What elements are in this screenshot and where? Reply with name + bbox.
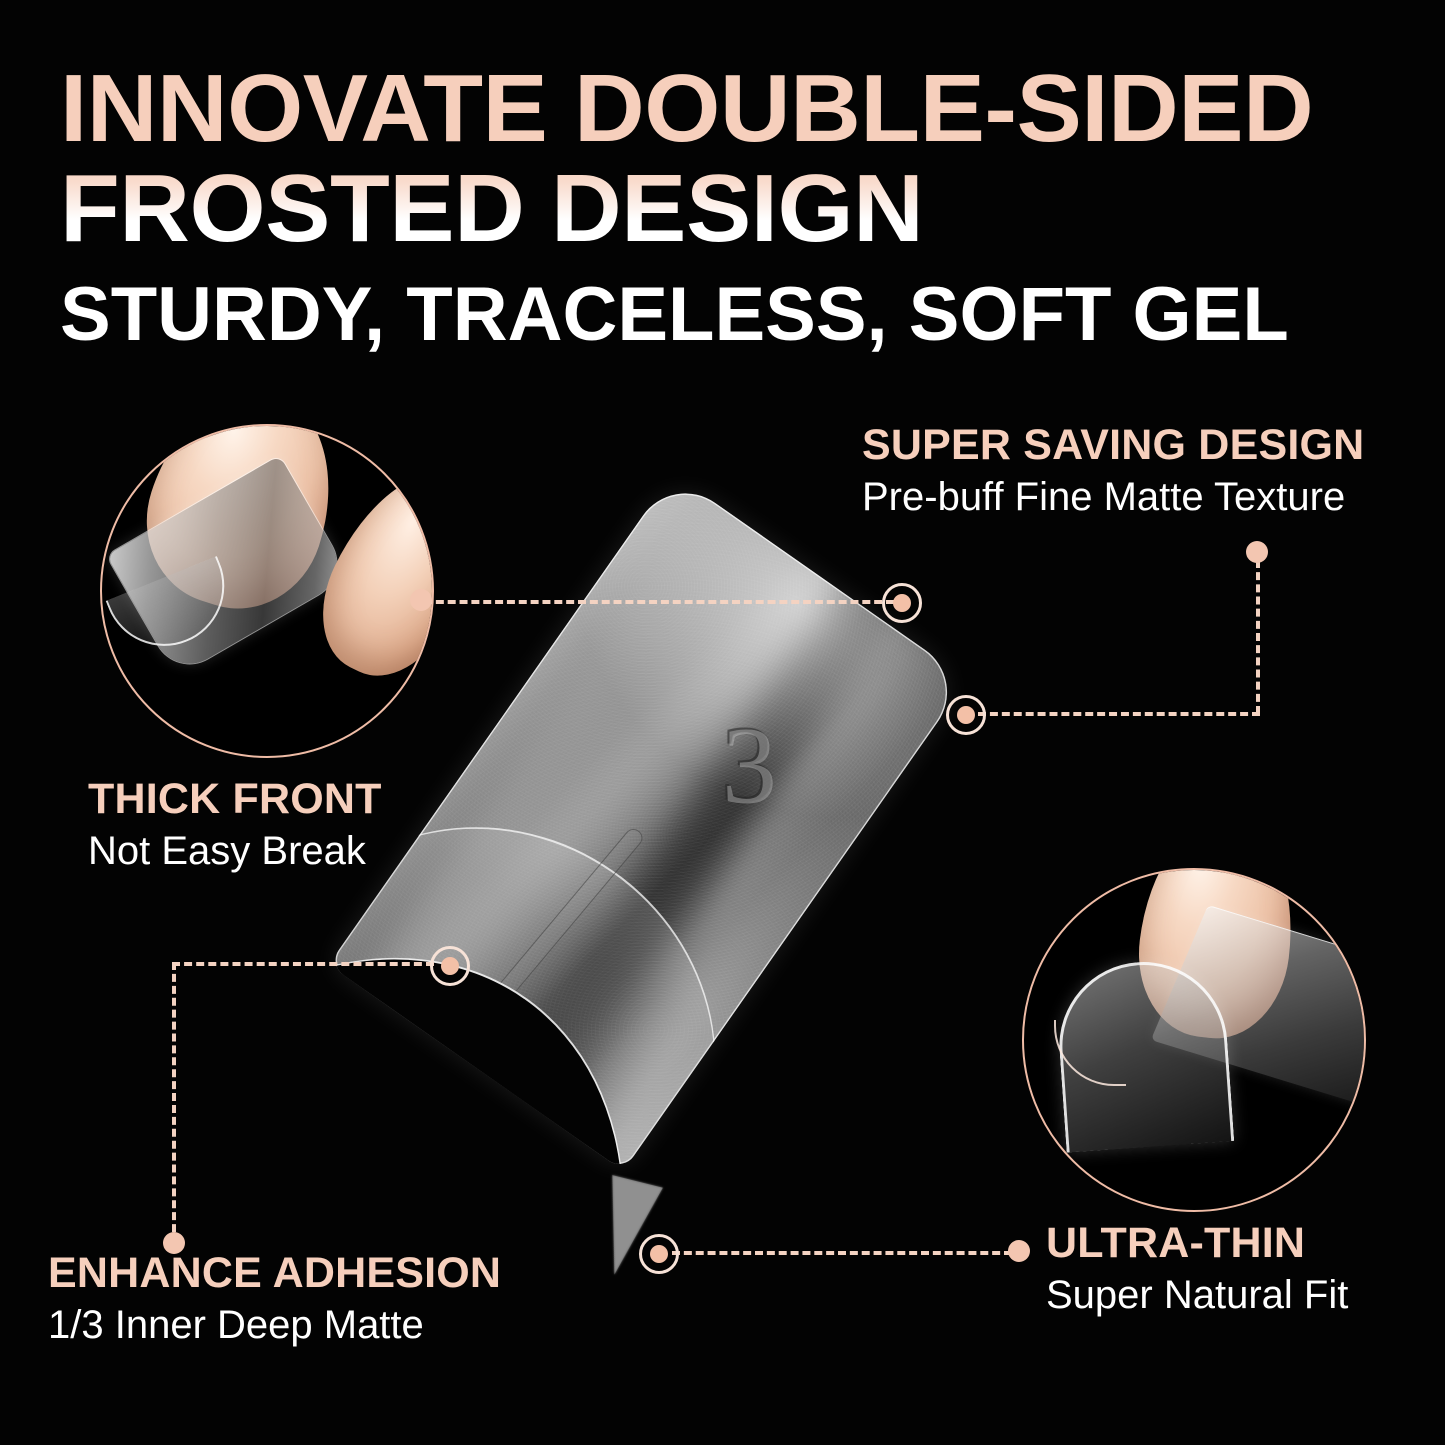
headline-line-1: INNOVATE DOUBLE-SIDED [60, 62, 1427, 156]
callout-super-saving-design: SUPER SAVING DESIGN Pre-buff Fine Matte … [862, 424, 1364, 518]
connector-line-ultra-thin [672, 1251, 1012, 1255]
callout-title: ENHANCE ADHESION [48, 1252, 501, 1296]
connector-ring-dot-super-saving [946, 695, 986, 735]
headline-line-2: FROSTED DESIGN [60, 162, 1427, 256]
infographic-canvas: INNOVATE DOUBLE-SIDED FROSTED DESIGN STU… [0, 0, 1445, 1445]
connector-line-enhance-adhesion-h [172, 962, 434, 966]
connector-line-thick-front [424, 600, 894, 604]
callout-ultra-thin: ULTRA-THIN Super Natural Fit [1046, 1222, 1348, 1316]
callout-title: THICK FRONT [88, 778, 382, 822]
thick-front-inset-photo [100, 424, 434, 758]
connector-line-super-saving-h [978, 712, 1260, 716]
connector-line-enhance-adhesion-v [172, 962, 176, 1244]
connector-ring-dot-ultra-thin [639, 1234, 679, 1274]
callout-title: ULTRA-THIN [1046, 1222, 1348, 1266]
connector-dot-thick-front-start [410, 589, 432, 611]
callout-thick-front: THICK FRONT Not Easy Break [88, 778, 382, 872]
headline-line-3: STURDY, TRACELESS, SOFT GEL [60, 278, 1400, 352]
connector-ring-dot-thick-front [882, 583, 922, 623]
headline-block: INNOVATE DOUBLE-SIDED FROSTED DESIGN STU… [60, 62, 1400, 353]
callout-subtitle: Super Natural Fit [1046, 1274, 1348, 1316]
connector-dot-ultra-thin-end [1008, 1240, 1030, 1262]
connector-dot-super-saving-end [1246, 541, 1268, 563]
connector-ring-dot-enhance-adhesion [430, 946, 470, 986]
connector-line-super-saving-v [1256, 560, 1260, 714]
callout-subtitle: 1/3 Inner Deep Matte [48, 1304, 501, 1346]
ultra-thin-inset-photo [1022, 868, 1366, 1212]
callout-enhance-adhesion: ENHANCE ADHESION 1/3 Inner Deep Matte [48, 1252, 501, 1346]
callout-subtitle: Pre-buff Fine Matte Texture [862, 476, 1364, 518]
callout-subtitle: Not Easy Break [88, 830, 382, 872]
callout-title: SUPER SAVING DESIGN [862, 424, 1364, 468]
